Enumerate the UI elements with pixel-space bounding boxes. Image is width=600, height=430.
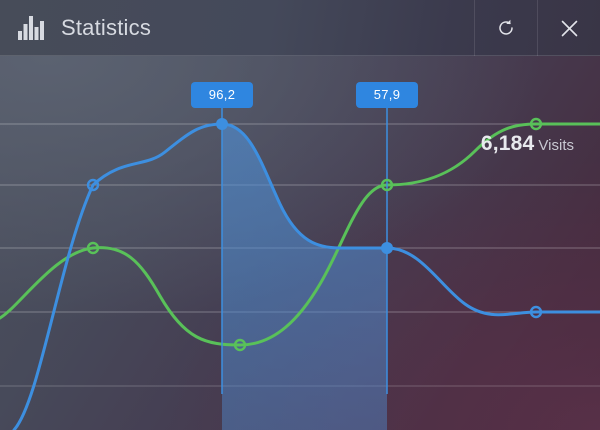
refresh-button[interactable] [474, 0, 537, 56]
tooltip-value-2[interactable]: 57,9 [356, 82, 418, 108]
close-icon [561, 20, 578, 37]
chart-plot [0, 56, 600, 430]
visits-value: 6,184 [481, 132, 535, 155]
data-point-blue-active-2[interactable] [381, 242, 393, 254]
refresh-icon [497, 19, 515, 37]
close-button[interactable] [537, 0, 600, 56]
data-point-blue-active-1[interactable] [216, 118, 228, 130]
visits-label: Visits [538, 137, 574, 154]
widget-header: Statistics [0, 0, 600, 56]
blue-area-fill [222, 124, 387, 430]
page-title: Statistics [61, 15, 151, 41]
visits-summary: 6,184Visits [481, 132, 574, 156]
chart-canvas[interactable]: 96,2 57,9 6,184Visits 1 2 3 4 5 6 7 8 [0, 56, 600, 430]
bar-chart-icon [18, 16, 44, 40]
tooltip-value-1[interactable]: 96,2 [191, 82, 253, 108]
statistics-widget: Statistics [0, 0, 600, 430]
